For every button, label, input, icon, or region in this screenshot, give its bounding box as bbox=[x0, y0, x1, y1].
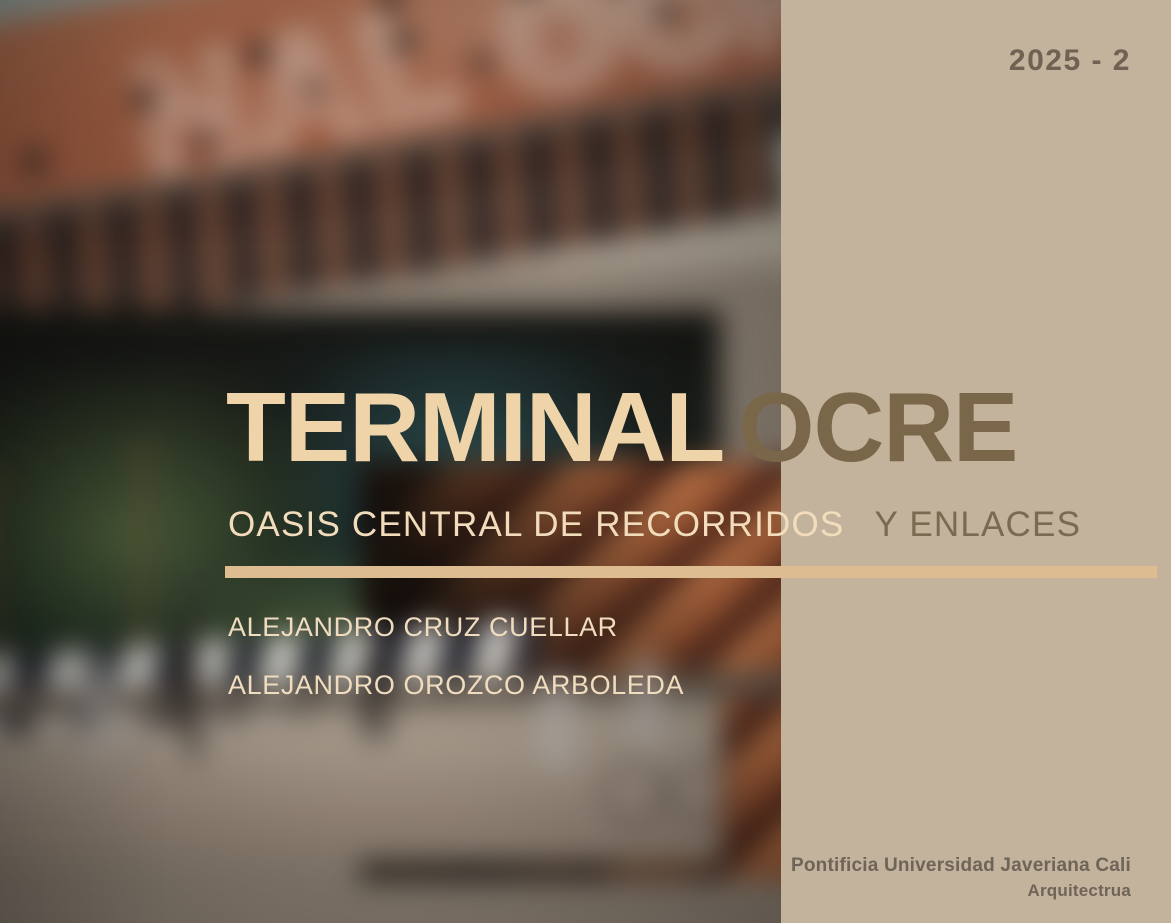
photo-pedestrian bbox=[168, 646, 194, 732]
footer: Pontificia Universidad Javeriana Cali Ar… bbox=[791, 855, 1131, 901]
title-accent-word: OCRE bbox=[738, 378, 1017, 476]
year-label: 2025 - 2 bbox=[1009, 44, 1131, 78]
page-title: TERMINAL OCRE bbox=[226, 378, 1017, 476]
footer-program: Arquitectrua bbox=[791, 881, 1131, 901]
author-name: ALEJANDRO CRUZ CUELLAR bbox=[228, 612, 684, 643]
photo-bicycle-wheel bbox=[666, 762, 728, 824]
subtitle-accent-text: Y ENLACES bbox=[874, 505, 1081, 545]
footer-institution: Pontificia Universidad Javeriana Cali bbox=[791, 855, 1131, 877]
title-main-word: TERMINAL bbox=[226, 378, 724, 476]
photo-bicycle-wheel bbox=[600, 760, 666, 826]
presentation-cover-slide: NAL OCRE bbox=[0, 0, 1171, 923]
author-name: ALEJANDRO OROZCO ARBOLEDA bbox=[228, 670, 684, 701]
photo-pedestrian bbox=[80, 658, 114, 754]
page-subtitle: OASIS CENTRAL DE RECORRIDOS Y ENLACES bbox=[228, 505, 1081, 545]
author-list: ALEJANDRO CRUZ CUELLAR ALEJANDRO OROZCO … bbox=[228, 612, 684, 728]
subtitle-main-text: OASIS CENTRAL DE RECORRIDOS bbox=[228, 505, 844, 545]
divider-bar bbox=[225, 566, 1157, 578]
